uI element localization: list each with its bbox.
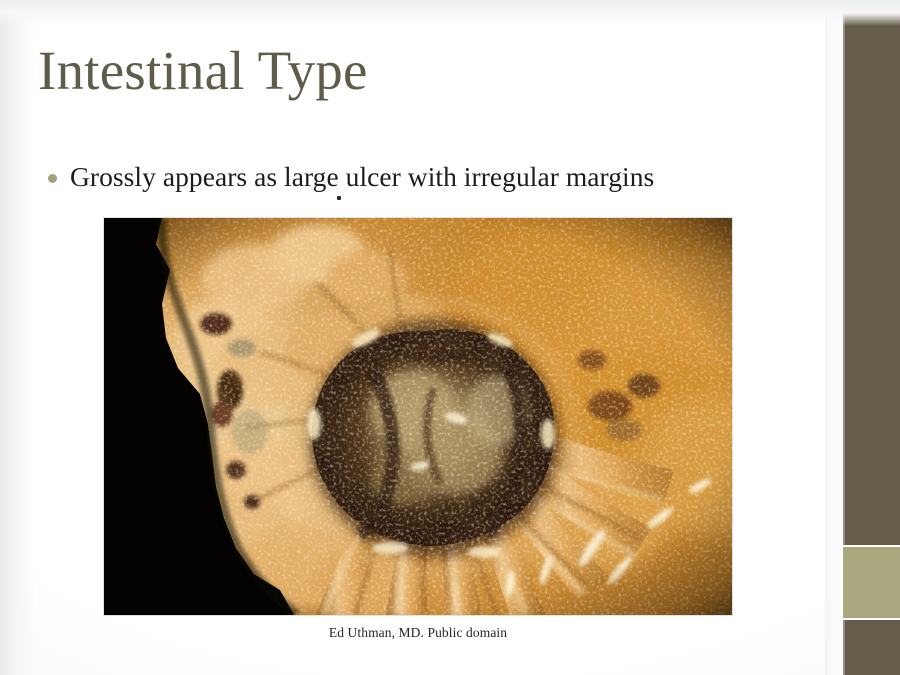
presentation-slide: Intestinal Type Grossly appears as large… <box>0 0 900 675</box>
sidebar-band-bottom <box>843 620 900 675</box>
bullet-list-item: Grossly appears as large ulcer with irre… <box>48 160 654 193</box>
sidebar-band-top <box>843 0 900 545</box>
pathology-photograph <box>104 218 732 615</box>
pathology-image-svg <box>104 218 732 615</box>
decorative-sidebar <box>843 0 900 675</box>
figure-caption: Ed Uthman, MD. Public domain <box>104 625 732 641</box>
bullet-item-label: Grossly appears as large ulcer with irre… <box>70 160 654 193</box>
page-title: Intestinal Type <box>38 42 368 100</box>
sidebar-band-middle <box>843 547 900 618</box>
bullet-dot-icon <box>48 174 57 183</box>
sidebar-gutter <box>825 0 843 675</box>
stray-period-mark <box>337 196 341 200</box>
